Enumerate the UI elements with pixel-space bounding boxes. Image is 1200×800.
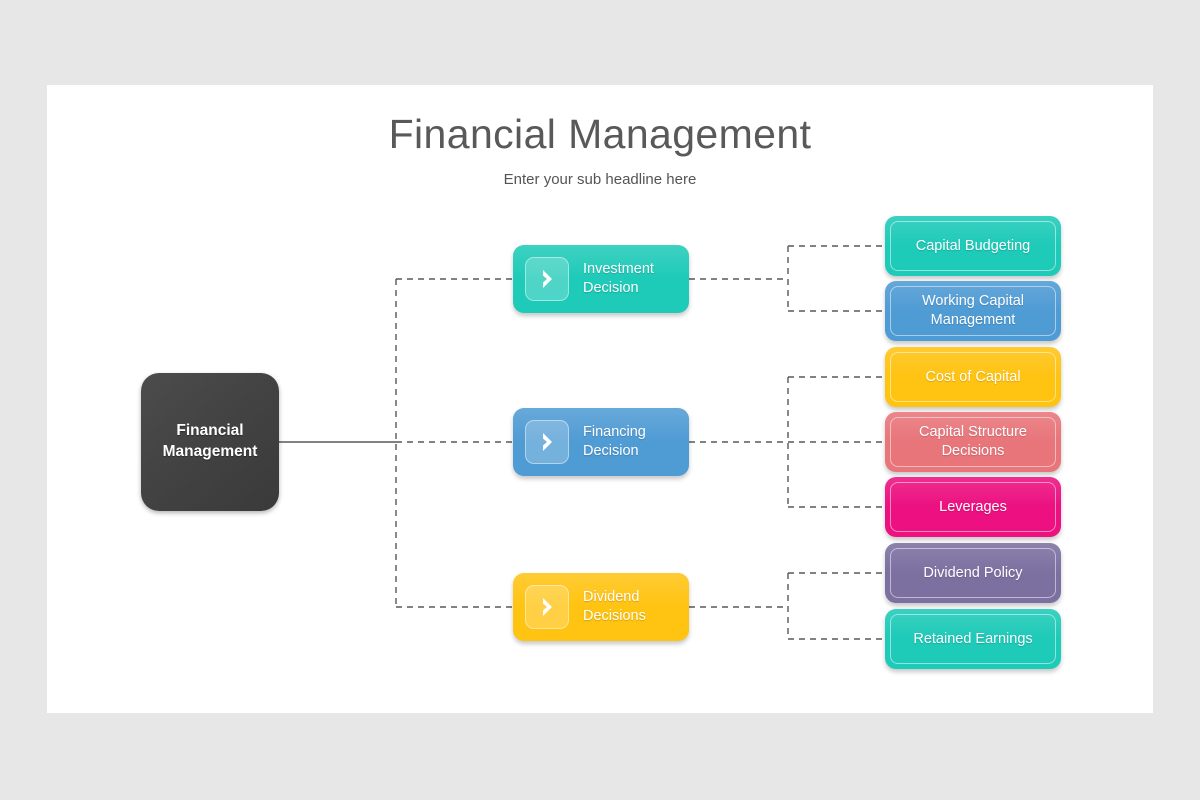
leaf-node-label: Dividend Policy [915,564,1030,583]
node-financing-decision[interactable]: Financing Decision [513,408,689,476]
leaf-node-label: Working Capital Management [885,292,1061,330]
branch-node-label: Dividend Decisions [583,588,689,626]
leaf-node-label: Leverages [931,498,1015,517]
node-dividend-decisions[interactable]: Dividend Decisions [513,573,689,641]
leaf-node-label: Retained Earnings [905,630,1040,649]
leaf-node-label: Capital Budgeting [908,237,1038,256]
node-financial-management[interactable]: Financial Management [141,373,279,511]
node-working-capital-management[interactable]: Working Capital Management [885,281,1061,341]
leaf-node-label: Capital Structure Decisions [885,423,1061,461]
node-cost-of-capital[interactable]: Cost of Capital [885,347,1061,407]
root-node-label: Financial Management [141,421,279,463]
branch-node-label: Financing Decision [583,423,689,461]
chevron-right-icon [525,585,569,629]
node-capital-budgeting[interactable]: Capital Budgeting [885,216,1061,276]
page-title: Financial Management [47,111,1153,158]
node-capital-structure-decisions[interactable]: Capital Structure Decisions [885,412,1061,472]
page-subtitle: Enter your sub headline here [47,171,1153,188]
node-investment-decision[interactable]: Investment Decision [513,245,689,313]
branch-node-label: Investment Decision [583,260,689,298]
chevron-right-icon [525,257,569,301]
leaf-node-label: Cost of Capital [917,368,1028,387]
slide-canvas: Financial Management Enter your sub head… [47,85,1153,713]
node-dividend-policy[interactable]: Dividend Policy [885,543,1061,603]
chevron-right-icon [525,420,569,464]
node-leverages[interactable]: Leverages [885,477,1061,537]
node-retained-earnings[interactable]: Retained Earnings [885,609,1061,669]
